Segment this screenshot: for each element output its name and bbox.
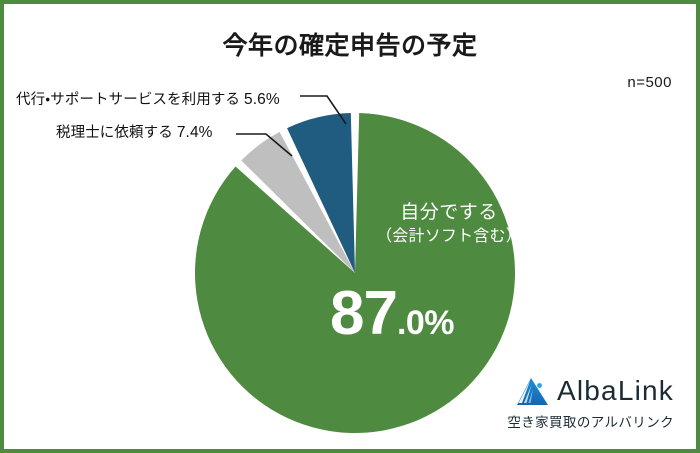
pie-slice-self-value-decimal: .0% — [397, 304, 454, 342]
brand-name: AlbaLink — [557, 377, 674, 405]
mountain-logo-icon — [516, 376, 550, 406]
callout-tax-accountant-label: 税理士に依頼する — [56, 125, 173, 141]
pie-slice-self-label-main: 自分でする — [359, 200, 539, 226]
pie-slice-self-value-integer: 87 — [330, 279, 397, 348]
callout-tax-accountant: 税理士に依頼する7.4% — [56, 121, 213, 142]
chart-title: 今年の確定申告の予定 — [4, 26, 696, 62]
pie-slice-self-label: 自分でする （会計ソフト含む） — [359, 200, 539, 247]
pie-slice-self-value: 87.0% — [262, 278, 522, 349]
brand-tagline: 空き家買取のアルバリンク — [507, 411, 674, 431]
pie-slices — [195, 113, 515, 433]
sample-size-label: n=500 — [627, 74, 672, 91]
pie-chart — [194, 112, 516, 434]
chart-card: 今年の確定申告の予定 n=500 代行・サポートサービスを利用する5.6% 税理… — [0, 0, 700, 453]
pie-svg — [194, 112, 516, 434]
callout-support-value: 5.6% — [244, 91, 280, 108]
brand-row: AlbaLink — [507, 376, 674, 406]
pie-slice-self-label-sub: （会計ソフト含む） — [359, 226, 539, 248]
callout-support-label: 代行・サポートサービスを利用する — [16, 92, 240, 108]
brand-logo: AlbaLink 空き家買取のアルバリンク — [507, 376, 674, 431]
callout-support: 代行・サポートサービスを利用する5.6% — [16, 88, 280, 109]
